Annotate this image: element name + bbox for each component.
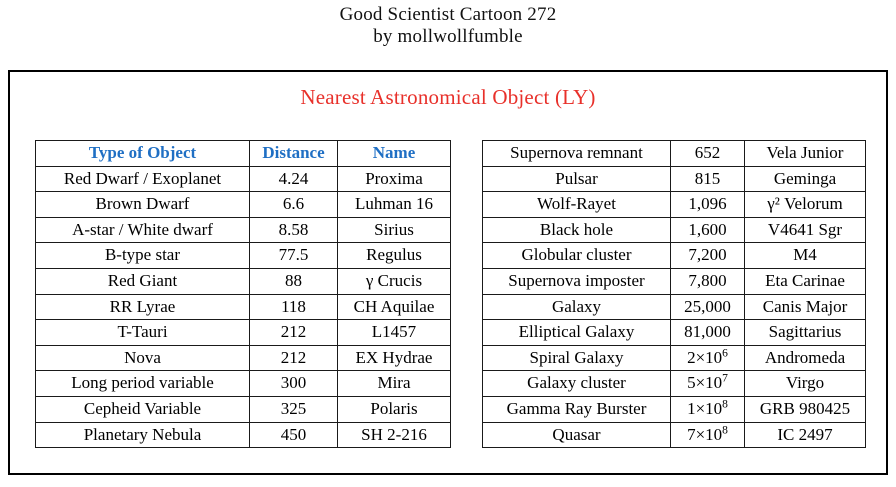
cell-name: Mira xyxy=(338,371,451,397)
cell-distance: 1,096 xyxy=(671,192,745,218)
nearest-object-table-left: Type of Object Distance Name Red Dwarf /… xyxy=(35,140,451,448)
cell-type: Globular cluster xyxy=(483,243,671,269)
cell-type: A-star / White dwarf xyxy=(36,217,250,243)
table-row: RR Lyrae118CH Aquilae xyxy=(36,294,451,320)
cell-type: Spiral Galaxy xyxy=(483,345,671,371)
cell-type: Nova xyxy=(36,345,250,371)
table-row: Red Giant88γ Crucis xyxy=(36,268,451,294)
cell-name: M4 xyxy=(745,243,866,269)
cell-type: Quasar xyxy=(483,422,671,448)
table-row: Red Dwarf / Exoplanet4.24Proxima xyxy=(36,166,451,192)
cell-distance: 77.5 xyxy=(250,243,338,269)
cell-type: Red Dwarf / Exoplanet xyxy=(36,166,250,192)
table-row: Quasar7×108IC 2497 xyxy=(483,422,866,448)
table-row: Globular cluster7,200M4 xyxy=(483,243,866,269)
cell-name: Geminga xyxy=(745,166,866,192)
cell-distance: 25,000 xyxy=(671,294,745,320)
table-row: Spiral Galaxy2×106Andromeda xyxy=(483,345,866,371)
cell-distance: 212 xyxy=(250,320,338,346)
cell-type: Wolf-Rayet xyxy=(483,192,671,218)
cell-distance: 4.24 xyxy=(250,166,338,192)
cell-name: EX Hydrae xyxy=(338,345,451,371)
cell-name: γ² Velorum xyxy=(745,192,866,218)
cell-distance: 5×107 xyxy=(671,371,745,397)
cell-distance: 450 xyxy=(250,422,338,448)
cell-name: SH 2-216 xyxy=(338,422,451,448)
cell-type: Supernova remnant xyxy=(483,141,671,167)
cell-distance: 1,600 xyxy=(671,217,745,243)
table-row: A-star / White dwarf8.58Sirius xyxy=(36,217,451,243)
cell-name: Sirius xyxy=(338,217,451,243)
exponent: 8 xyxy=(722,397,728,410)
content-panel: Nearest Astronomical Object (LY) Type of… xyxy=(8,70,888,475)
table-header-row: Type of Object Distance Name xyxy=(36,141,451,167)
panel-heading: Nearest Astronomical Object (LY) xyxy=(10,85,886,110)
table-row: Supernova imposter7,800Eta Carinae xyxy=(483,268,866,294)
table-row: Long period variable300Mira xyxy=(36,371,451,397)
table-row: Brown Dwarf6.6Luhman 16 xyxy=(36,192,451,218)
exponent: 7 xyxy=(722,372,728,385)
table-row: Elliptical Galaxy81,000Sagittarius xyxy=(483,320,866,346)
table-row: T-Tauri212L1457 xyxy=(36,320,451,346)
cell-type: Cepheid Variable xyxy=(36,396,250,422)
cell-name: V4641 Sgr xyxy=(745,217,866,243)
table-row: Galaxy cluster5×107Virgo xyxy=(483,371,866,397)
table-row: Nova212EX Hydrae xyxy=(36,345,451,371)
cell-name: IC 2497 xyxy=(745,422,866,448)
cell-distance: 81,000 xyxy=(671,320,745,346)
table-left-body: Red Dwarf / Exoplanet4.24ProximaBrown Dw… xyxy=(36,166,451,448)
cell-type: B-type star xyxy=(36,243,250,269)
cell-distance: 325 xyxy=(250,396,338,422)
cell-type: Supernova imposter xyxy=(483,268,671,294)
table-row: Wolf-Rayet1,096γ² Velorum xyxy=(483,192,866,218)
cell-type: Gamma Ray Burster xyxy=(483,396,671,422)
table-left-head: Type of Object Distance Name xyxy=(36,141,451,167)
cell-distance: 212 xyxy=(250,345,338,371)
cell-type: Long period variable xyxy=(36,371,250,397)
cartoon-title: Good Scientist Cartoon 272 xyxy=(0,4,896,26)
cell-name: Virgo xyxy=(745,371,866,397)
cell-distance: 88 xyxy=(250,268,338,294)
cell-distance: 300 xyxy=(250,371,338,397)
table-row: Gamma Ray Burster1×108GRB 980425 xyxy=(483,396,866,422)
cell-type: T-Tauri xyxy=(36,320,250,346)
cell-name: Proxima xyxy=(338,166,451,192)
cell-name: GRB 980425 xyxy=(745,396,866,422)
cell-distance: 652 xyxy=(671,141,745,167)
cartoon-byline: by mollwollfumble xyxy=(0,26,896,48)
cell-distance: 2×106 xyxy=(671,345,745,371)
cell-distance: 6.6 xyxy=(250,192,338,218)
cell-name: Polaris xyxy=(338,396,451,422)
table-row: Cepheid Variable325Polaris xyxy=(36,396,451,422)
cell-type: Galaxy cluster xyxy=(483,371,671,397)
cell-distance: 7×108 xyxy=(671,422,745,448)
table-right-body: Supernova remnant652Vela JuniorPulsar815… xyxy=(483,141,866,448)
cell-type: RR Lyrae xyxy=(36,294,250,320)
cell-name: Vela Junior xyxy=(745,141,866,167)
table-row: Galaxy25,000Canis Major xyxy=(483,294,866,320)
cell-type: Red Giant xyxy=(36,268,250,294)
table-row: Supernova remnant652Vela Junior xyxy=(483,141,866,167)
column-header-type: Type of Object xyxy=(36,141,250,167)
cell-name: Luhman 16 xyxy=(338,192,451,218)
cell-type: Pulsar xyxy=(483,166,671,192)
nearest-object-table-right: Supernova remnant652Vela JuniorPulsar815… xyxy=(482,140,866,448)
cell-name: L1457 xyxy=(338,320,451,346)
cell-name: CH Aquilae xyxy=(338,294,451,320)
cell-type: Planetary Nebula xyxy=(36,422,250,448)
cell-name: Eta Carinae xyxy=(745,268,866,294)
cell-distance: 7,800 xyxy=(671,268,745,294)
cell-distance: 8.58 xyxy=(250,217,338,243)
cell-name: Canis Major xyxy=(745,294,866,320)
cell-name: γ Crucis xyxy=(338,268,451,294)
table-row: Black hole1,600V4641 Sgr xyxy=(483,217,866,243)
cell-distance: 815 xyxy=(671,166,745,192)
title-block: Good Scientist Cartoon 272 by mollwollfu… xyxy=(0,4,896,49)
cell-distance: 7,200 xyxy=(671,243,745,269)
cell-type: Brown Dwarf xyxy=(36,192,250,218)
column-header-distance: Distance xyxy=(250,141,338,167)
table-row: Pulsar815Geminga xyxy=(483,166,866,192)
column-header-name: Name xyxy=(338,141,451,167)
exponent: 6 xyxy=(722,346,728,359)
cell-distance: 118 xyxy=(250,294,338,320)
cell-name: Regulus xyxy=(338,243,451,269)
cell-type: Elliptical Galaxy xyxy=(483,320,671,346)
cell-type: Galaxy xyxy=(483,294,671,320)
table-row: B-type star77.5Regulus xyxy=(36,243,451,269)
exponent: 8 xyxy=(722,423,728,436)
cell-type: Black hole xyxy=(483,217,671,243)
cell-name: Sagittarius xyxy=(745,320,866,346)
cell-name: Andromeda xyxy=(745,345,866,371)
table-row: Planetary Nebula450SH 2-216 xyxy=(36,422,451,448)
cell-distance: 1×108 xyxy=(671,396,745,422)
